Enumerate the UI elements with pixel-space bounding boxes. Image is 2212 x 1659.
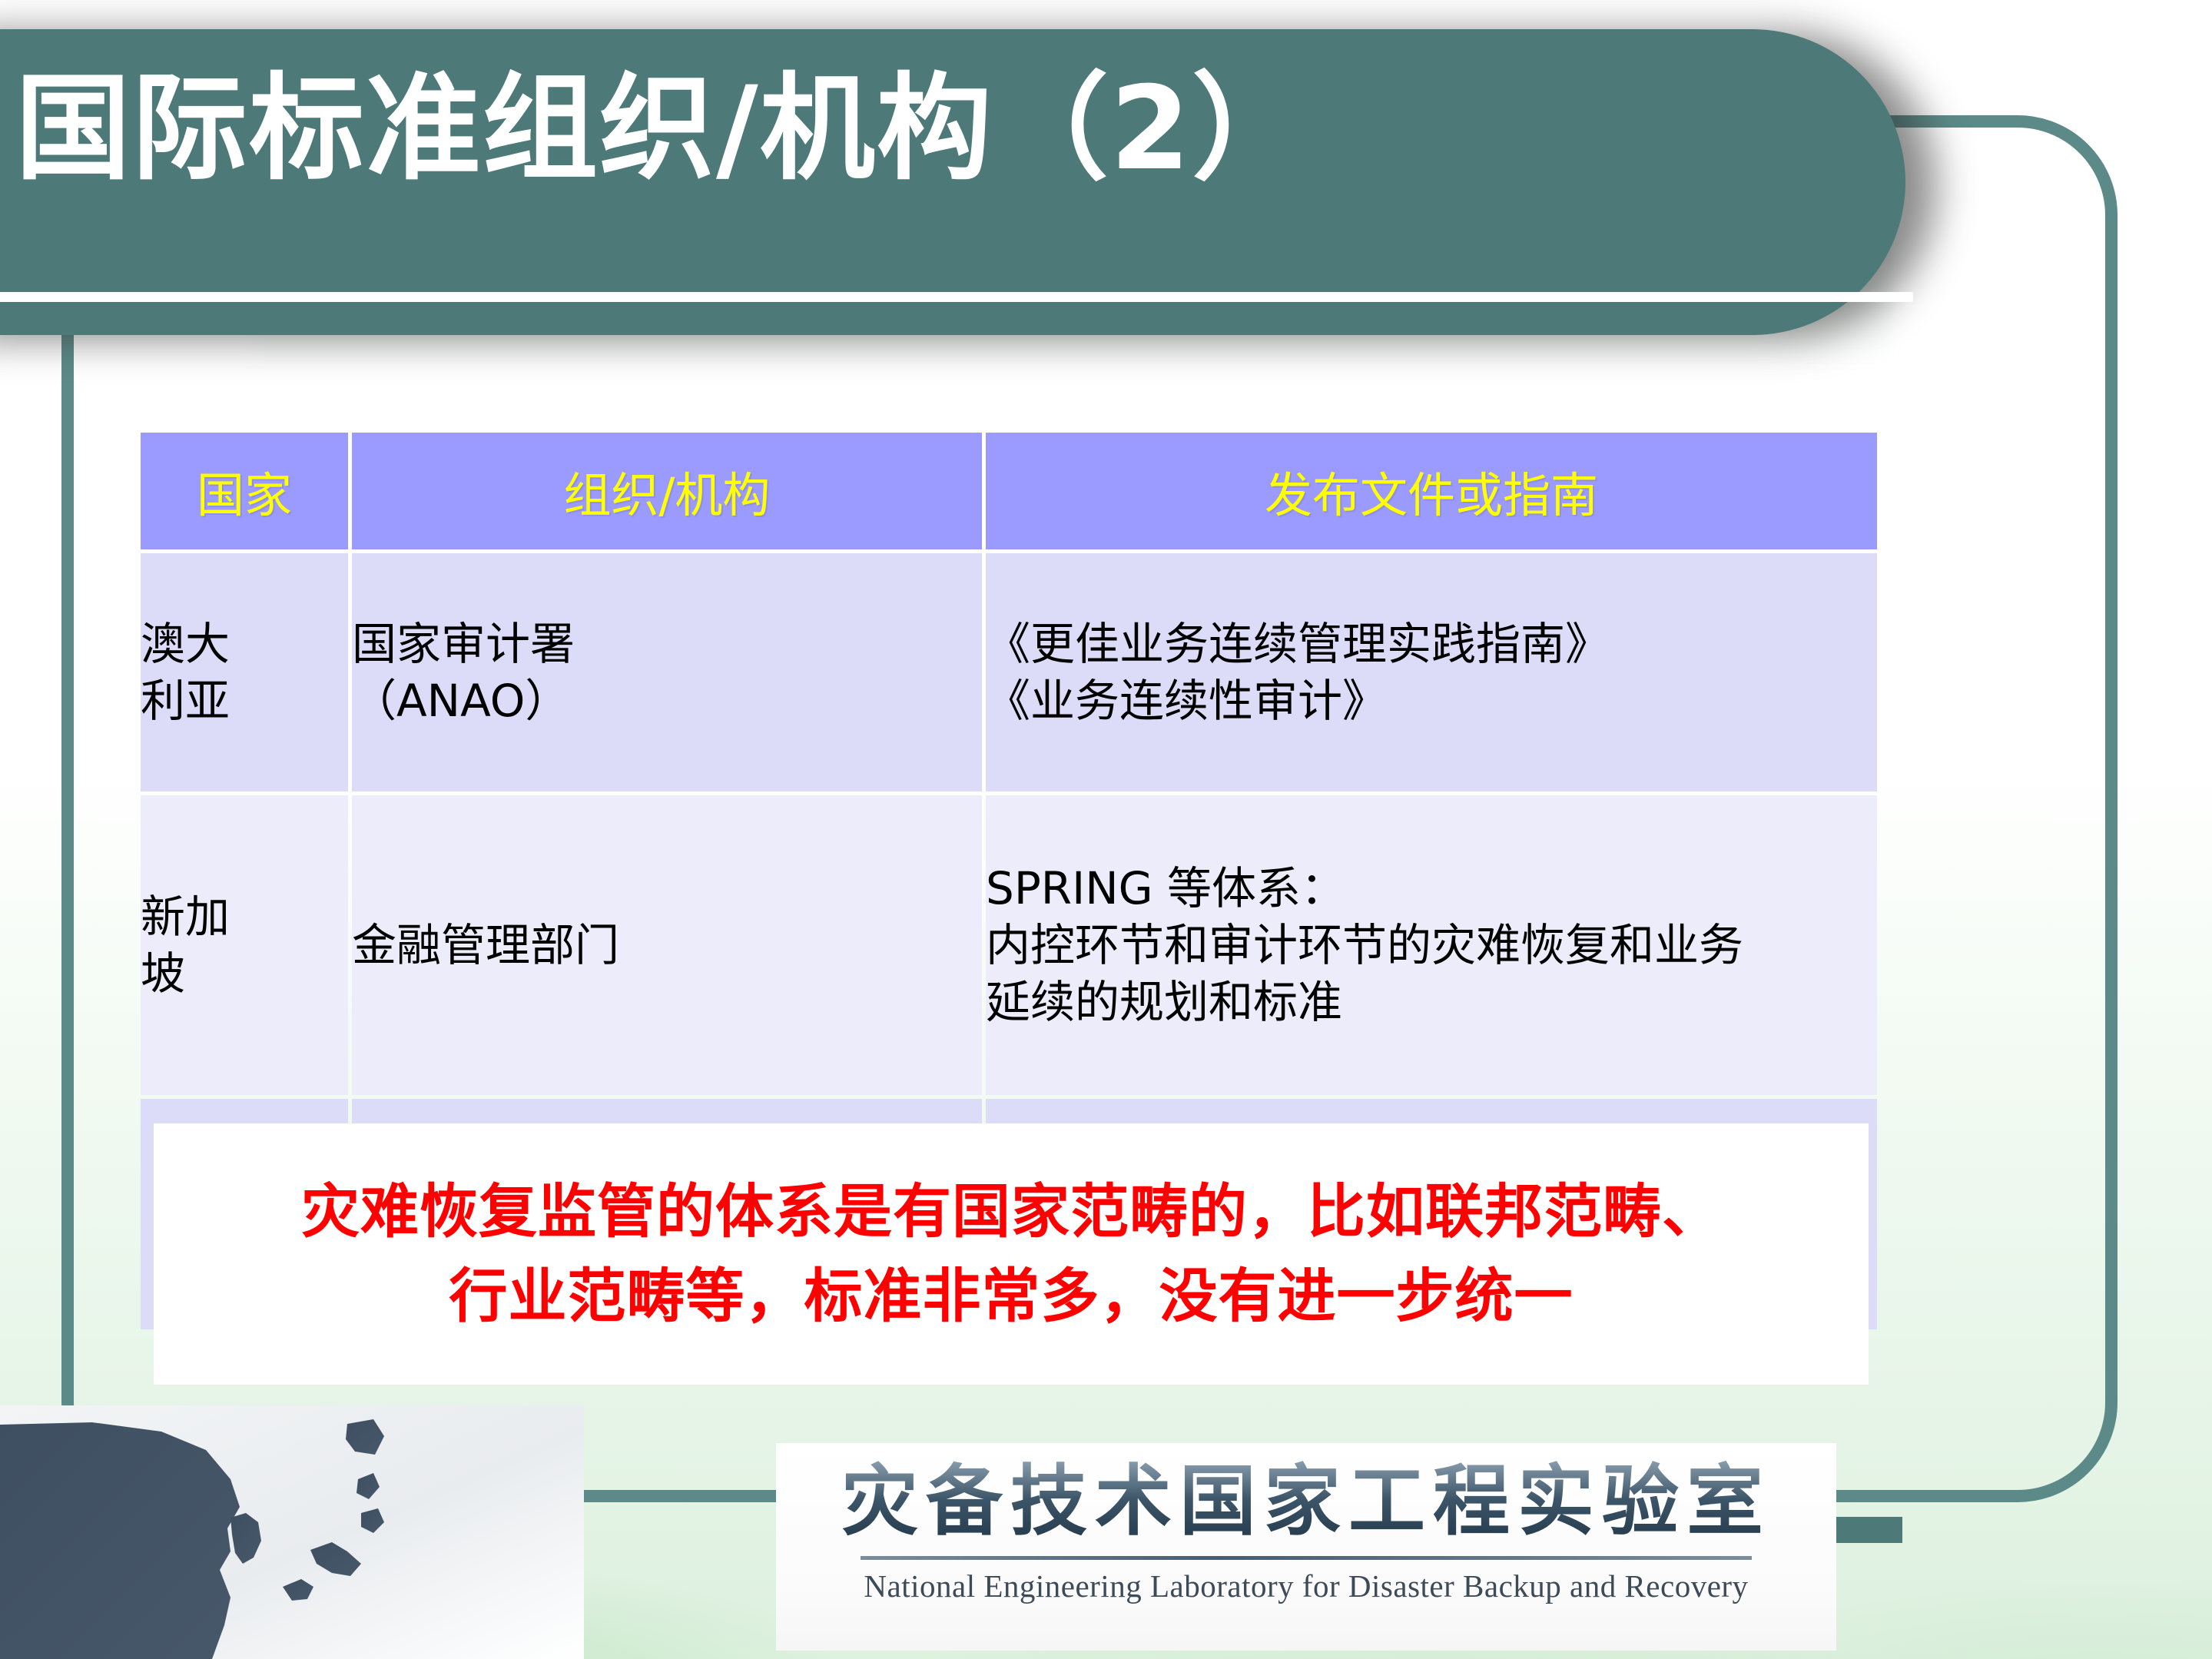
column-header-organization: 组织/机构	[352, 433, 982, 549]
cell-documents: SPRING 等体系： 内控环节和审计环节的灾难恢复和业务 延续的规划和标准	[986, 795, 1877, 1095]
cell-country: 澳大 利亚	[141, 553, 348, 791]
slide-canvas: 国际标准组织/机构（2） 国家 组织/机构 发布文件或指南 澳大 利亚 国家审计…	[0, 0, 2212, 1659]
cell-country: 新加 坡	[141, 795, 348, 1095]
table-row: 新加 坡 金融管理部门 SPRING 等体系： 内控环节和审计环节的灾难恢复和业…	[141, 795, 1877, 1095]
lab-name-english: National Engineering Laboratory for Disa…	[864, 1568, 1748, 1604]
map-graphic-icon	[0, 1405, 584, 1659]
page-title: 国际标准组织/机构（2）	[15, 71, 1308, 187]
column-header-country: 国家	[141, 433, 348, 549]
callout-line-2: 行业范畴等，标准非常多，没有进一步统一	[449, 1265, 1574, 1328]
red-callout-box: 灾难恢复监管的体系是有国家范畴的，比如联邦范畴、 行业范畴等，标准非常多，没有进…	[154, 1123, 1869, 1385]
table-row: 澳大 利亚 国家审计署 （ANAO） 《更佳业务连续管理实践指南》 《业务连续性…	[141, 553, 1877, 791]
lab-name-chinese: 灾备技术国家工程实验室	[841, 1457, 1771, 1545]
footer-accent-tab	[1836, 1517, 1902, 1543]
table-header-row: 国家 组织/机构 发布文件或指南	[141, 433, 1877, 549]
column-header-documents: 发布文件或指南	[986, 433, 1877, 549]
cell-organization: 国家审计署 （ANAO）	[352, 553, 982, 791]
cell-documents: 《更佳业务连续管理实践指南》 《业务连续性审计》	[986, 553, 1877, 791]
logo-divider	[861, 1556, 1752, 1560]
cell-organization: 金融管理部门	[352, 795, 982, 1095]
header-banner: 国际标准组织/机构（2）	[0, 29, 1905, 335]
east-asia-map-decoration	[0, 1405, 584, 1659]
callout-line-1: 灾难恢复监管的体系是有国家范畴的，比如联邦范畴、	[301, 1180, 1721, 1243]
footer-logo: 灾备技术国家工程实验室 National Engineering Laborat…	[776, 1443, 1836, 1651]
header-underline-rule	[0, 292, 1913, 302]
